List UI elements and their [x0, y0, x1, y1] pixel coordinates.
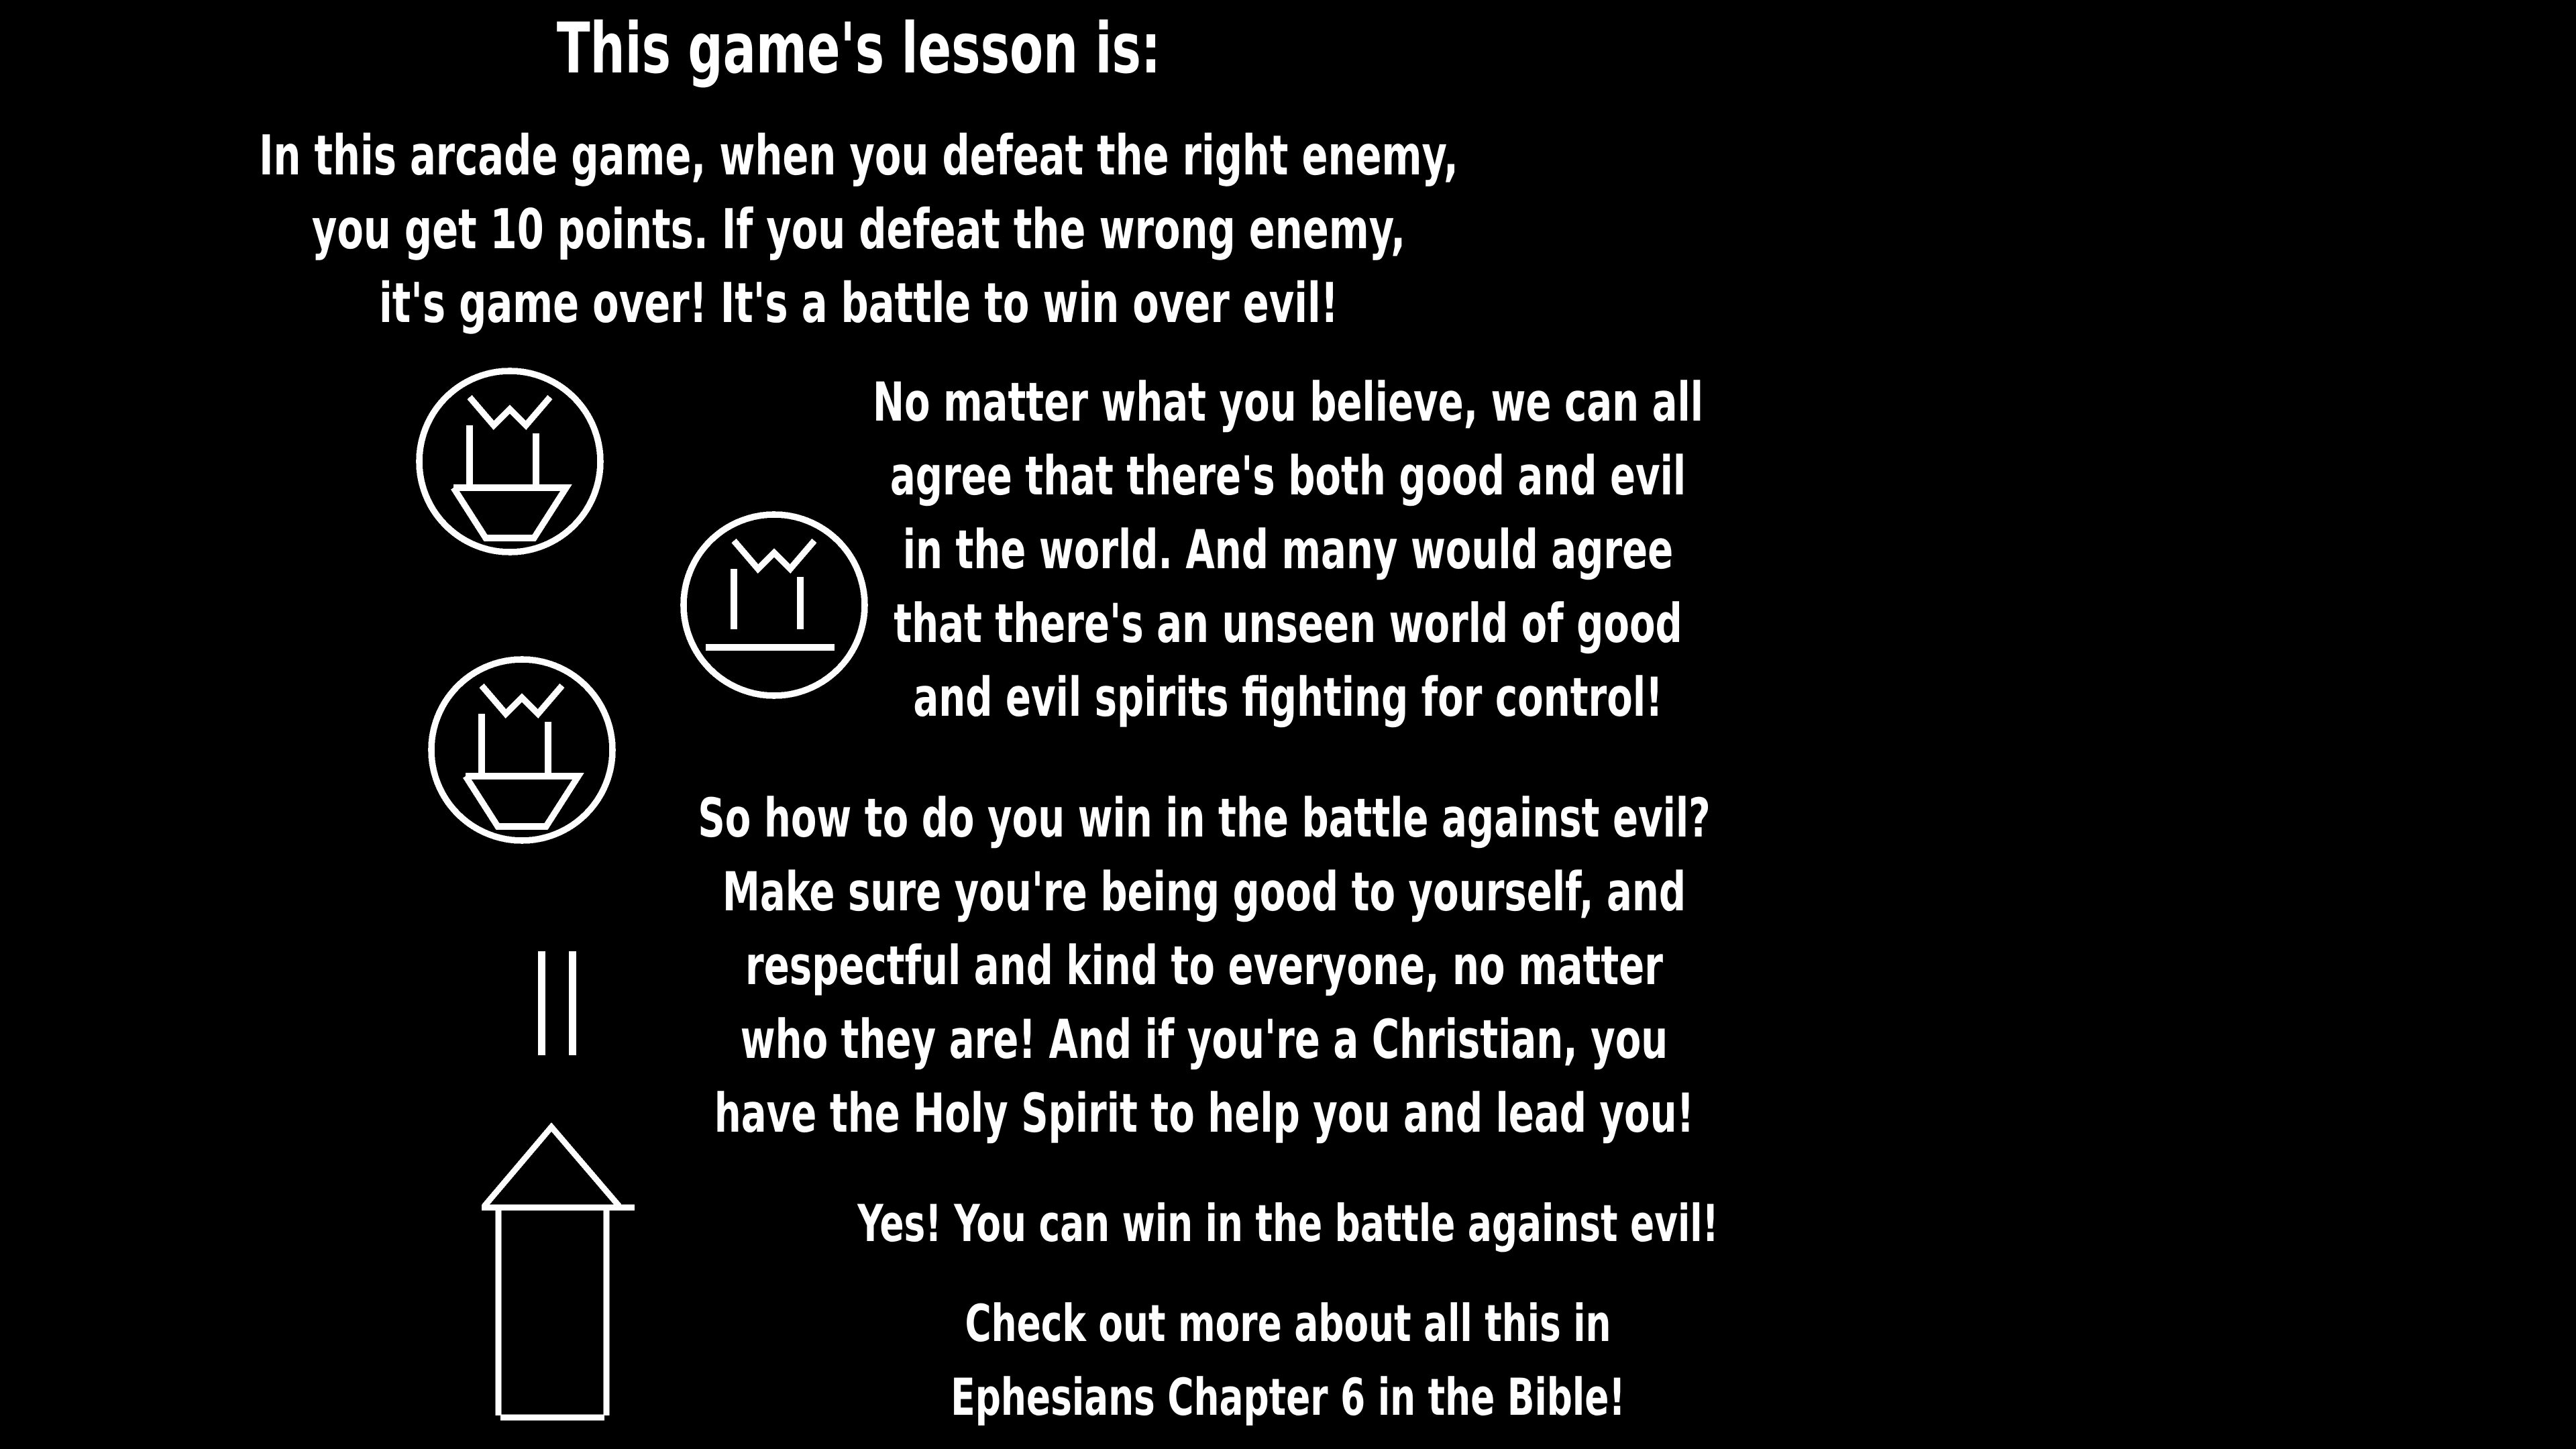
game-lesson-screen: This game's lesson is: In this arcade ga…: [0, 0, 2576, 1449]
bible-reference-paragraph: Check out more about all this in Ephesia…: [649, 1287, 1926, 1434]
affirmation-line: Yes! You can win in the battle against e…: [649, 1189, 1926, 1258]
enemy-smiley-open-mouth-icon: [409, 361, 610, 562]
intro-paragraph: In this arcade game, when you defeat the…: [189, 119, 1529, 341]
how-to-win-paragraph: So how to do you win in the battle again…: [500, 782, 1908, 1150]
player-arrow-ship-icon: [482, 1110, 649, 1449]
bullet-pair-icon: [529, 951, 616, 1055]
good-and-evil-paragraph: No matter what you believe, we can all a…: [649, 366, 1926, 735]
page-title: This game's lesson is:: [189, 13, 1529, 83]
